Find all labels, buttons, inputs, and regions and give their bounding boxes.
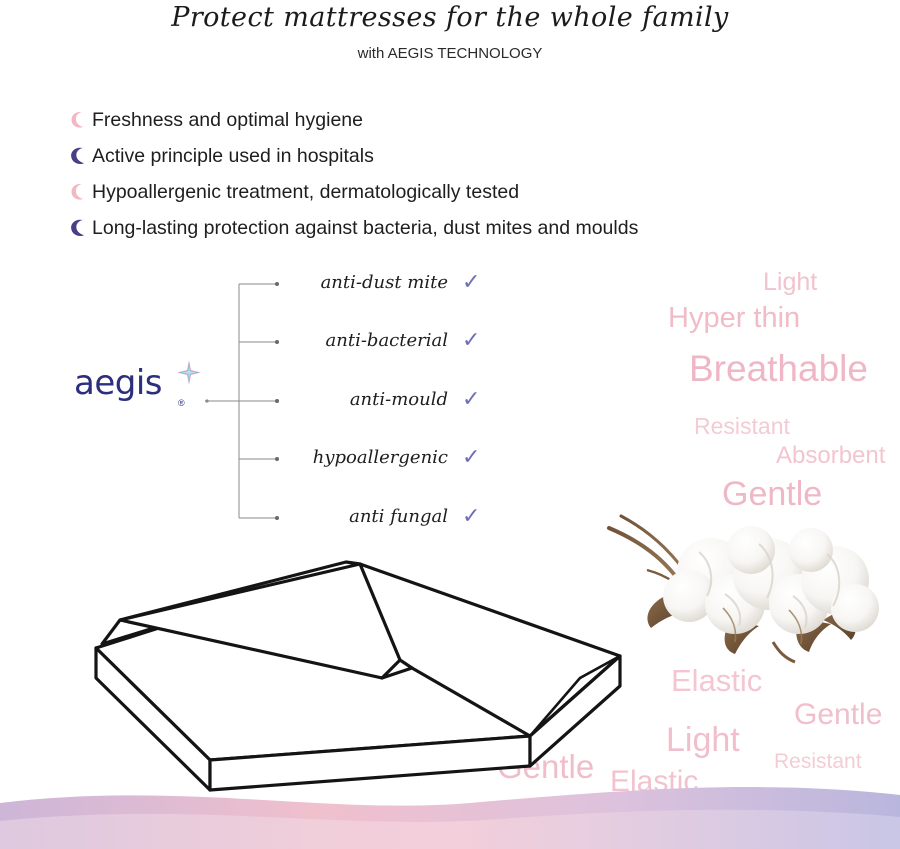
sparkle-icon — [176, 360, 202, 386]
cotton-bolls-photo — [603, 500, 893, 665]
list-item-label: Freshness and optimal hygiene — [92, 109, 363, 131]
page-title: Protect mattresses for the whole family — [0, 2, 900, 33]
check-icon: ✓ — [462, 271, 480, 293]
list-item: Long-lasting protection against bacteria… — [66, 210, 866, 246]
list-item: Hypoallergenic treatment, dermatological… — [66, 174, 866, 210]
list-item: anti-mould ✓ — [282, 386, 512, 412]
check-icon: ✓ — [462, 329, 480, 351]
crescent-moon-icon — [66, 145, 92, 167]
crescent-moon-icon — [66, 181, 92, 203]
list-item: Freshness and optimal hygiene — [66, 102, 866, 138]
feature-label: anti fungal — [282, 506, 448, 527]
keyword-tag: Gentle — [794, 700, 882, 730]
aegis-logo: aegis ® — [74, 366, 204, 416]
list-item: anti fungal ✓ — [282, 503, 512, 529]
list-item: anti-dust mite ✓ — [282, 269, 512, 295]
keyword-tag: Absorbent — [776, 444, 885, 468]
benefits-list: Freshness and optimal hygiene Active pri… — [66, 102, 866, 246]
keyword-tag: Hyper thin — [668, 304, 800, 333]
page-subtitle: with AEGIS TECHNOLOGY — [0, 45, 900, 62]
list-item-label: Active principle used in hospitals — [92, 145, 374, 167]
keyword-tag: Resistant — [774, 751, 862, 772]
feature-label: anti-dust mite — [282, 272, 448, 293]
list-item-label: Hypoallergenic treatment, dermatological… — [92, 181, 519, 203]
feature-label: anti-bacterial — [282, 330, 448, 351]
keyword-tag: Resistant — [694, 415, 790, 438]
check-icon: ✓ — [462, 388, 480, 410]
feature-label: anti-mould — [282, 389, 448, 410]
crescent-moon-icon — [66, 109, 92, 131]
registered-trademark-icon: ® — [178, 398, 185, 408]
feature-list: anti-dust mite ✓ anti-bacterial ✓ anti-m… — [282, 266, 512, 534]
keyword-tag: Breathable — [689, 350, 868, 387]
list-item-label: Long-lasting protection against bacteria… — [92, 217, 638, 239]
list-item: anti-bacterial ✓ — [282, 327, 512, 353]
feature-label: hypoallergenic — [282, 447, 448, 468]
list-item: Active principle used in hospitals — [66, 138, 866, 174]
list-item: hypoallergenic ✓ — [282, 444, 512, 470]
crescent-moon-icon — [66, 217, 92, 239]
footer-gradient-band — [0, 787, 900, 849]
keyword-tag: Light — [763, 270, 817, 295]
check-icon: ✓ — [462, 505, 480, 527]
check-icon: ✓ — [462, 446, 480, 468]
